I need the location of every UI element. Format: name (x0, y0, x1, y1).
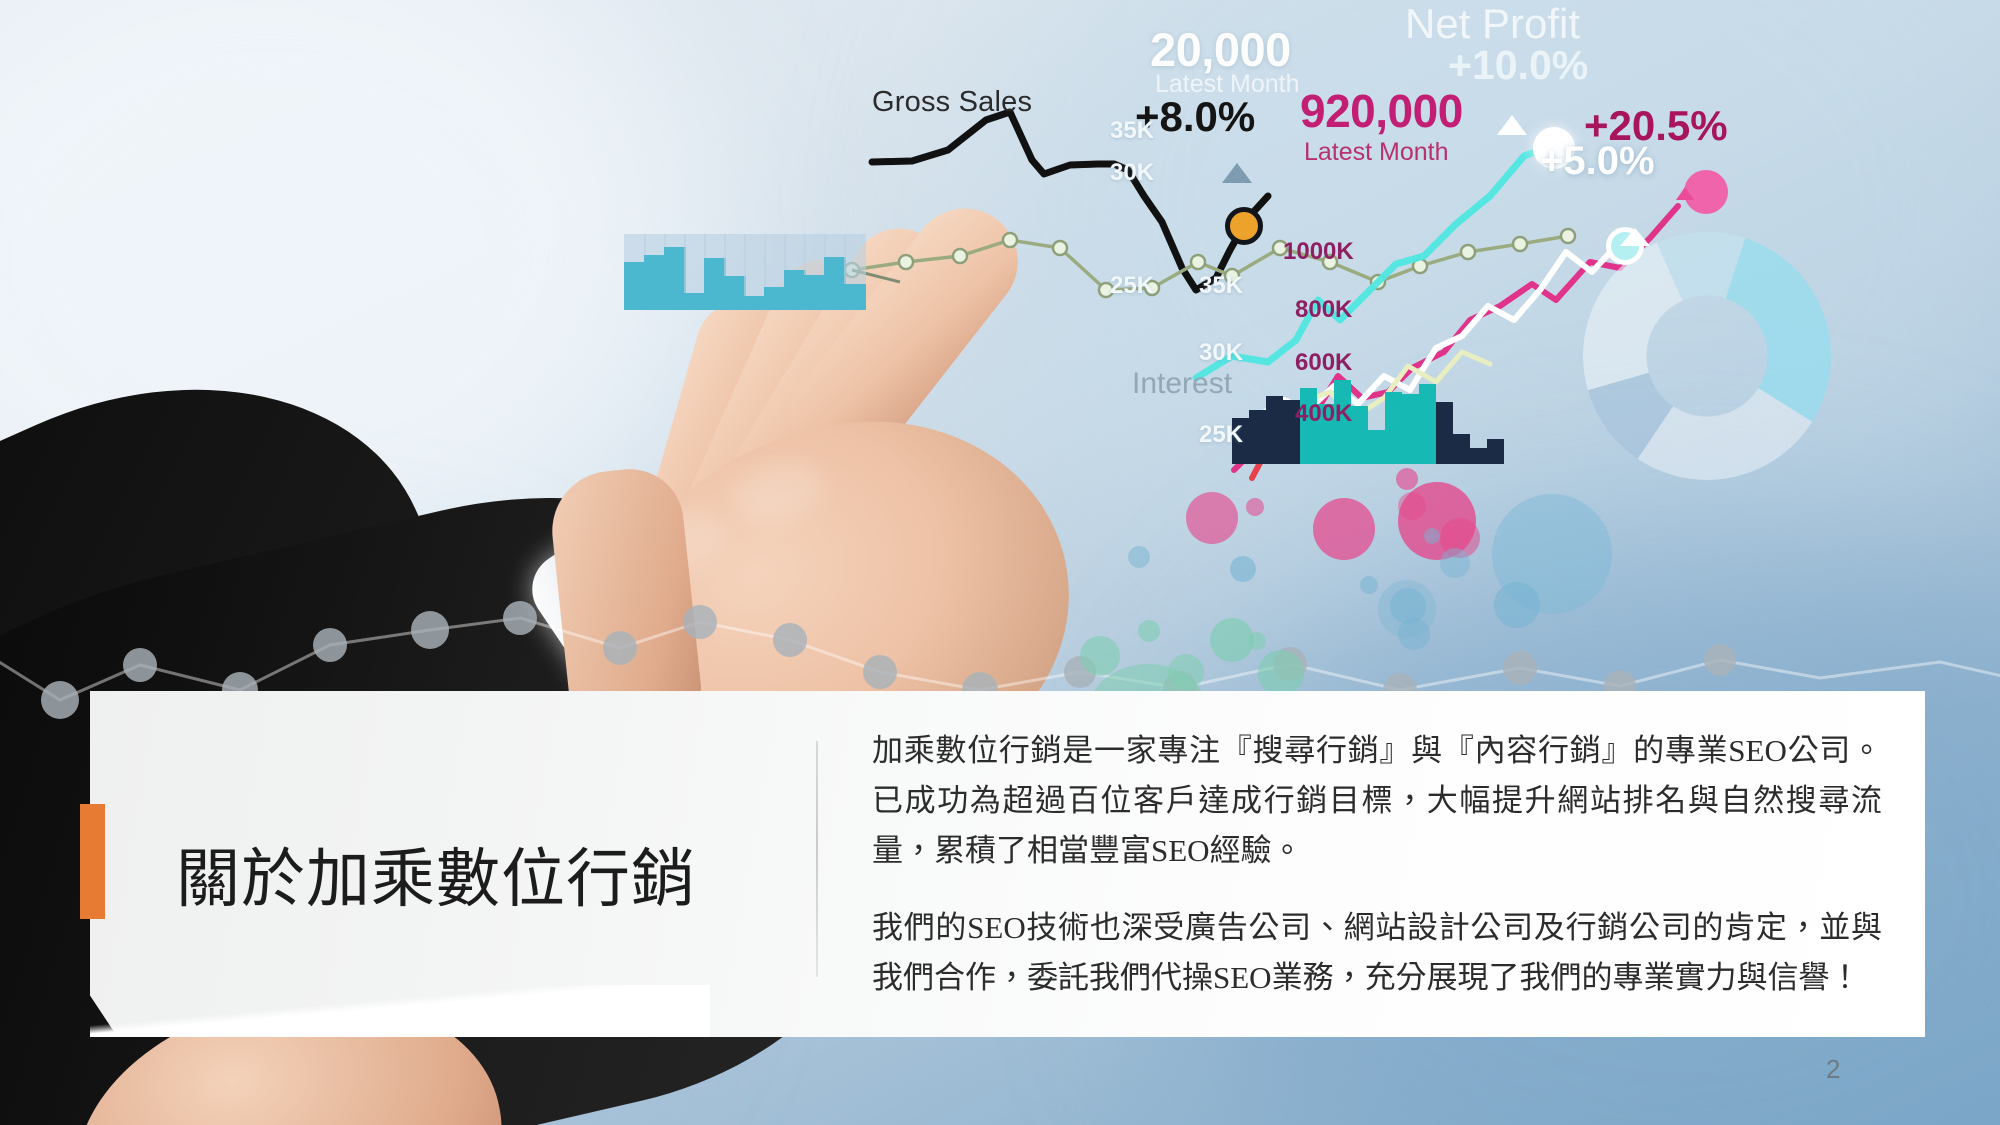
body-text-block: 加乘數位行銷是一家專注『搜尋行銷』與『內容行銷』的專業SEO公司。已成功為超過百… (872, 726, 1882, 1003)
light-glow (980, 0, 2000, 660)
vertical-divider (816, 741, 818, 977)
page-title: 關於加乘數位行銷 (176, 844, 786, 916)
orange-accent-bar (80, 804, 105, 919)
paragraph-1: 加乘數位行銷是一家專注『搜尋行銷』與『內容行銷』的專業SEO公司。已成功為超過百… (872, 726, 1882, 877)
page-number: 2 (1826, 1054, 1840, 1085)
presentation-slide: Gross Sales Interest Net Profit 20,000 L… (0, 0, 2000, 1125)
paragraph-2: 我們的SEO技術也深受廣告公司、網站設計公司及行銷公司的肯定，並與我們合作，委託… (872, 903, 1882, 1003)
